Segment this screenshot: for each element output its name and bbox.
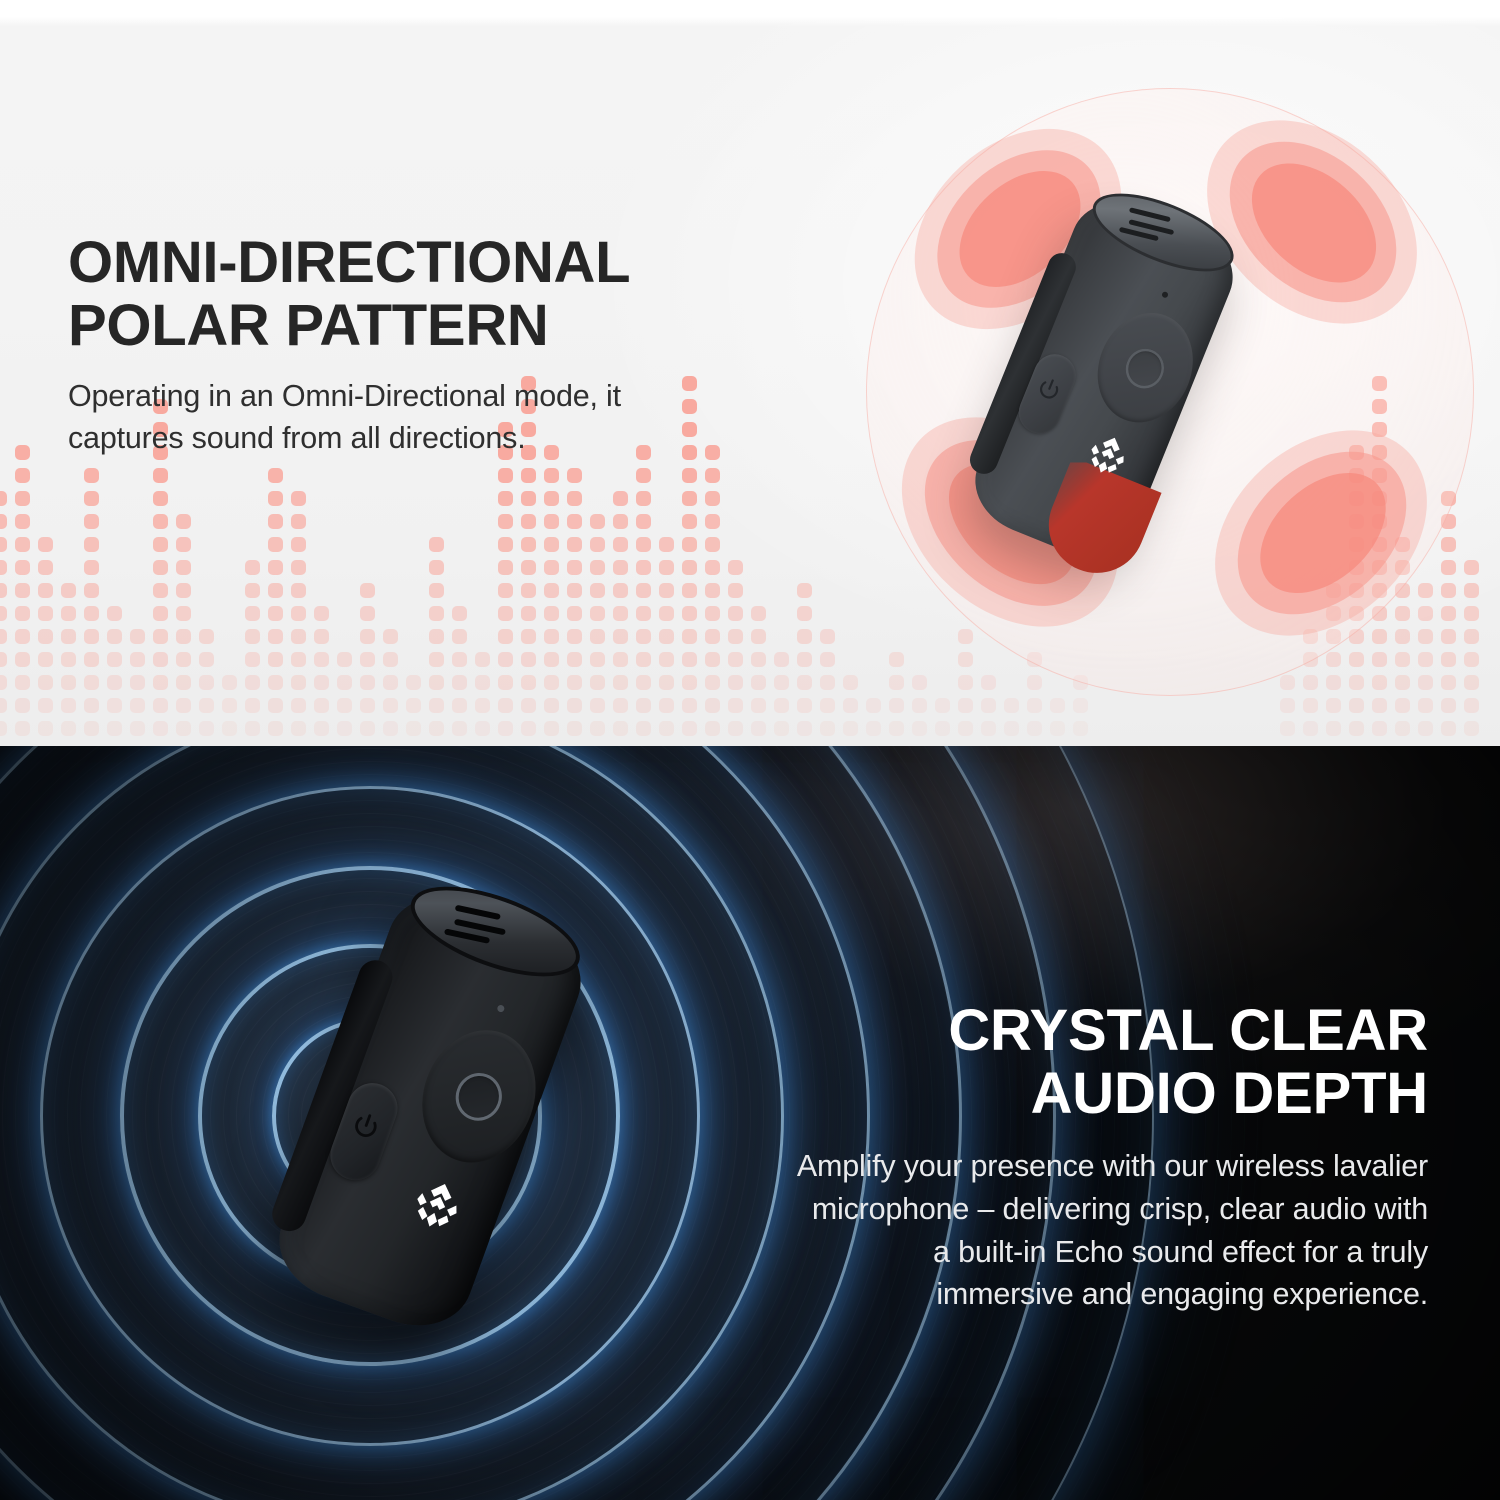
equalizer-dot — [291, 537, 306, 552]
equalizer-dot — [176, 537, 191, 552]
equalizer-dot — [1050, 698, 1065, 713]
equalizer-dot — [475, 721, 490, 736]
equalizer-dot — [222, 721, 237, 736]
equalizer-dot — [728, 721, 743, 736]
equalizer-dot — [544, 675, 559, 690]
equalizer-dot — [751, 606, 766, 621]
equalizer-dot — [682, 698, 697, 713]
equalizer-dot — [636, 721, 651, 736]
equalizer-dot — [0, 514, 7, 529]
equalizer-dot — [38, 537, 53, 552]
equalizer-dot — [544, 721, 559, 736]
equalizer-dot — [705, 583, 720, 598]
equalizer-dot — [222, 675, 237, 690]
equalizer-dot — [567, 652, 582, 667]
equalizer-dot — [705, 537, 720, 552]
equalizer-dot — [521, 675, 536, 690]
equalizer-dot — [268, 675, 283, 690]
equalizer-dot — [751, 721, 766, 736]
equalizer-dot — [153, 606, 168, 621]
equalizer-dot — [636, 606, 651, 621]
equalizer-dot — [15, 675, 30, 690]
equalizer-dot — [314, 721, 329, 736]
equalizer-dot — [659, 652, 674, 667]
equalizer-dot — [1349, 721, 1364, 736]
equalizer-dot — [107, 652, 122, 667]
equalizer-dot — [429, 606, 444, 621]
equalizer-dot — [705, 698, 720, 713]
equalizer-dot — [153, 468, 168, 483]
equalizer-dot — [521, 537, 536, 552]
equalizer-dot — [268, 721, 283, 736]
equalizer-dot — [682, 675, 697, 690]
equalizer-dot — [176, 698, 191, 713]
equalizer-dot — [406, 675, 421, 690]
equalizer-dot — [291, 560, 306, 575]
equalizer-dot — [636, 468, 651, 483]
equalizer-dot — [1395, 698, 1410, 713]
equalizer-dot — [38, 652, 53, 667]
equalizer-dot — [797, 698, 812, 713]
equalizer-dot — [613, 514, 628, 529]
equalizer-dot — [682, 652, 697, 667]
equalizer-dot — [107, 675, 122, 690]
equalizer-dot — [866, 721, 881, 736]
equalizer-dot — [797, 606, 812, 621]
equalizer-dot — [429, 698, 444, 713]
equalizer-dot — [268, 629, 283, 644]
equalizer-dot — [1050, 721, 1065, 736]
equalizer-dot — [0, 721, 7, 736]
equalizer-dot — [84, 721, 99, 736]
equalizer-dot — [682, 606, 697, 621]
equalizer-dot — [314, 629, 329, 644]
equalizer-dot — [245, 698, 260, 713]
equalizer-dot — [291, 514, 306, 529]
equalizer-dot — [199, 721, 214, 736]
equalizer-dot — [360, 652, 375, 667]
equalizer-dot — [728, 583, 743, 598]
equalizer-dot — [659, 606, 674, 621]
equalizer-dot — [84, 560, 99, 575]
equalizer-dot — [153, 721, 168, 736]
equalizer-dot — [866, 698, 881, 713]
equalizer-dot — [452, 652, 467, 667]
equalizer-dot — [544, 583, 559, 598]
equalizer-dot — [613, 606, 628, 621]
equalizer-dot — [452, 698, 467, 713]
equalizer-dot — [590, 514, 605, 529]
equalizer-dot — [360, 606, 375, 621]
equalizer-dot — [728, 606, 743, 621]
top-panel-omni-directional: OMNI-DIRECTIONAL POLAR PATTERN Operating… — [0, 0, 1500, 746]
equalizer-dot — [84, 698, 99, 713]
equalizer-dot — [636, 629, 651, 644]
equalizer-dot — [820, 675, 835, 690]
equalizer-dot — [429, 629, 444, 644]
equalizer-dot — [498, 560, 513, 575]
equalizer-dot — [0, 698, 7, 713]
equalizer-dot — [820, 652, 835, 667]
equalizer-dot — [15, 721, 30, 736]
equalizer-dot — [84, 675, 99, 690]
equalizer-dot — [268, 698, 283, 713]
equalizer-dot — [498, 675, 513, 690]
equalizer-dot — [291, 698, 306, 713]
equalizer-dot — [153, 675, 168, 690]
equalizer-dot — [153, 514, 168, 529]
equalizer-dot — [38, 606, 53, 621]
equalizer-dot — [383, 652, 398, 667]
equalizer-dot — [360, 721, 375, 736]
equalizer-dot — [429, 537, 444, 552]
equalizer-dot — [659, 698, 674, 713]
equalizer-dot — [84, 652, 99, 667]
equalizer-dot — [498, 514, 513, 529]
equalizer-dot — [498, 652, 513, 667]
equalizer-dot — [153, 537, 168, 552]
equalizer-dot — [751, 698, 766, 713]
equalizer-dot — [613, 698, 628, 713]
equalizer-dot — [268, 652, 283, 667]
equalizer-dot — [567, 675, 582, 690]
equalizer-dot — [1280, 698, 1295, 713]
equalizer-dot — [314, 675, 329, 690]
equalizer-dot — [291, 721, 306, 736]
equalizer-dot — [61, 698, 76, 713]
equalizer-dot — [981, 698, 996, 713]
equalizer-dot — [199, 652, 214, 667]
equalizer-dot — [544, 514, 559, 529]
equalizer-dot — [268, 537, 283, 552]
equalizer-dot — [751, 652, 766, 667]
equalizer-dot — [912, 698, 927, 713]
equalizer-dot — [245, 583, 260, 598]
equalizer-dot — [498, 537, 513, 552]
equalizer-dot — [84, 583, 99, 598]
equalizer-dot — [613, 652, 628, 667]
equalizer-dot — [843, 675, 858, 690]
equalizer-dot — [613, 491, 628, 506]
equalizer-dot — [521, 560, 536, 575]
equalizer-dot — [0, 652, 7, 667]
equalizer-dot — [107, 629, 122, 644]
equalizer-dot — [130, 698, 145, 713]
equalizer-dot — [590, 721, 605, 736]
equalizer-dot — [797, 675, 812, 690]
top-headline-line2: POLAR PATTERN — [68, 293, 549, 358]
equalizer-dot — [567, 537, 582, 552]
equalizer-dot — [498, 721, 513, 736]
equalizer-dot — [222, 698, 237, 713]
equalizer-dot — [153, 698, 168, 713]
equalizer-dot — [0, 491, 7, 506]
equalizer-dot — [107, 698, 122, 713]
top-body-text: Operating in an Omni-Directional mode, i… — [68, 376, 708, 459]
equalizer-dot — [268, 560, 283, 575]
equalizer-dot — [429, 721, 444, 736]
equalizer-dot — [176, 629, 191, 644]
equalizer-dot — [38, 698, 53, 713]
equalizer-dot — [1303, 698, 1318, 713]
equalizer-dot — [0, 629, 7, 644]
bottom-headline-line1: CRYSTAL CLEAR — [948, 998, 1428, 1063]
equalizer-dot — [590, 675, 605, 690]
equalizer-dot — [291, 491, 306, 506]
equalizer-dot — [268, 468, 283, 483]
equalizer-dot — [935, 698, 950, 713]
equalizer-dot — [567, 583, 582, 598]
equalizer-dot — [1372, 721, 1387, 736]
equalizer-dot — [360, 698, 375, 713]
equalizer-dot — [912, 721, 927, 736]
equalizer-dot — [659, 629, 674, 644]
equalizer-dot — [728, 675, 743, 690]
equalizer-dot — [337, 675, 352, 690]
equalizer-dot — [268, 583, 283, 598]
equalizer-dot — [38, 721, 53, 736]
equalizer-dot — [705, 629, 720, 644]
equalizer-dot — [1004, 721, 1019, 736]
equalizer-dot — [521, 468, 536, 483]
equalizer-dot — [61, 606, 76, 621]
equalizer-dot — [613, 675, 628, 690]
equalizer-dot — [682, 583, 697, 598]
equalizer-dot — [452, 675, 467, 690]
equalizer-dot — [61, 583, 76, 598]
equalizer-dot — [268, 491, 283, 506]
equalizer-dot — [291, 652, 306, 667]
equalizer-dot — [199, 698, 214, 713]
equalizer-dot — [544, 606, 559, 621]
equalizer-dot — [820, 629, 835, 644]
equalizer-dot — [889, 721, 904, 736]
equalizer-dot — [1004, 698, 1019, 713]
equalizer-dot — [475, 698, 490, 713]
equalizer-dot — [981, 721, 996, 736]
equalizer-dot — [590, 652, 605, 667]
equalizer-dot — [452, 606, 467, 621]
equalizer-dot — [291, 675, 306, 690]
equalizer-dot — [291, 629, 306, 644]
equalizer-dot — [636, 583, 651, 598]
equalizer-dot — [245, 560, 260, 575]
equalizer-dot — [429, 652, 444, 667]
equalizer-dot — [291, 606, 306, 621]
equalizer-dot — [544, 698, 559, 713]
equalizer-dot — [1418, 698, 1433, 713]
equalizer-dot — [636, 514, 651, 529]
equalizer-dot — [0, 560, 7, 575]
equalizer-dot — [475, 675, 490, 690]
equalizer-dot — [199, 629, 214, 644]
equalizer-dot — [15, 468, 30, 483]
equalizer-dot — [567, 606, 582, 621]
equalizer-dot — [567, 560, 582, 575]
equalizer-dot — [15, 514, 30, 529]
equalizer-dot — [889, 698, 904, 713]
equalizer-dot — [613, 537, 628, 552]
equalizer-dot — [15, 698, 30, 713]
equalizer-dot — [130, 652, 145, 667]
equalizer-dot — [705, 560, 720, 575]
equalizer-dot — [659, 537, 674, 552]
equalizer-dot — [176, 514, 191, 529]
equalizer-dot — [1326, 721, 1341, 736]
equalizer-dot — [774, 652, 789, 667]
equalizer-dot — [130, 629, 145, 644]
equalizer-dot — [176, 721, 191, 736]
equalizer-dot — [245, 675, 260, 690]
equalizer-dot — [521, 491, 536, 506]
equalizer-dot — [636, 560, 651, 575]
equalizer-dot — [107, 606, 122, 621]
equalizer-dot — [728, 560, 743, 575]
equalizer-dot — [659, 721, 674, 736]
equalizer-dot — [1303, 721, 1318, 736]
equalizer-dot — [0, 606, 7, 621]
equalizer-dot — [153, 560, 168, 575]
equalizer-dot — [521, 721, 536, 736]
equalizer-dot — [84, 468, 99, 483]
equalizer-dot — [452, 629, 467, 644]
equalizer-dot — [751, 629, 766, 644]
equalizer-dot — [544, 491, 559, 506]
equalizer-dot — [383, 721, 398, 736]
equalizer-dot — [337, 652, 352, 667]
equalizer-dot — [245, 721, 260, 736]
equalizer-dot — [498, 698, 513, 713]
equalizer-dot — [153, 491, 168, 506]
equalizer-dot — [0, 537, 7, 552]
equalizer-dot — [682, 491, 697, 506]
equalizer-dot — [130, 675, 145, 690]
equalizer-dot — [613, 583, 628, 598]
equalizer-dot — [521, 514, 536, 529]
equalizer-dot — [567, 698, 582, 713]
equalizer-dot — [843, 698, 858, 713]
equalizer-dot — [1464, 721, 1479, 736]
equalizer-dot — [0, 675, 7, 690]
equalizer-dot — [682, 514, 697, 529]
equalizer-dot — [130, 721, 145, 736]
equalizer-dot — [820, 721, 835, 736]
top-headline: OMNI-DIRECTIONAL POLAR PATTERN — [68, 232, 748, 357]
equalizer-dot — [636, 652, 651, 667]
equalizer-dot — [498, 583, 513, 598]
equalizer-dot — [797, 583, 812, 598]
equalizer-dot — [544, 652, 559, 667]
equalizer-dot — [958, 721, 973, 736]
equalizer-dot — [15, 560, 30, 575]
equalizer-dot — [705, 468, 720, 483]
equalizer-dot — [314, 606, 329, 621]
equalizer-dot — [1441, 721, 1456, 736]
bottom-headline-line2: AUDIO DEPTH — [1031, 1061, 1428, 1126]
equalizer-dot — [682, 629, 697, 644]
equalizer-dot — [1027, 721, 1042, 736]
equalizer-dot — [544, 560, 559, 575]
equalizer-dot — [84, 514, 99, 529]
equalizer-dot — [268, 606, 283, 621]
equalizer-dot — [682, 560, 697, 575]
equalizer-dot — [682, 721, 697, 736]
equalizer-dot — [176, 652, 191, 667]
equalizer-dot — [843, 721, 858, 736]
equalizer-dot — [544, 629, 559, 644]
equalizer-dot — [705, 491, 720, 506]
equalizer-dot — [153, 583, 168, 598]
equalizer-dot — [590, 606, 605, 621]
equalizer-dot — [567, 514, 582, 529]
equalizer-dot — [590, 560, 605, 575]
equalizer-dot — [613, 560, 628, 575]
equalizer-dot — [245, 652, 260, 667]
equalizer-dot — [544, 537, 559, 552]
equalizer-dot — [199, 675, 214, 690]
equalizer-dot — [383, 629, 398, 644]
equalizer-dot — [268, 514, 283, 529]
equalizer-dot — [567, 468, 582, 483]
equalizer-dot — [475, 652, 490, 667]
equalizer-dot — [15, 606, 30, 621]
bottom-body-text: Amplify your presence with our wireless … — [788, 1145, 1428, 1316]
equalizer-dot — [705, 675, 720, 690]
equalizer-dot — [61, 675, 76, 690]
equalizer-dot — [38, 560, 53, 575]
equalizer-dot — [1349, 698, 1364, 713]
equalizer-dot — [521, 629, 536, 644]
equalizer-dot — [1395, 721, 1410, 736]
equalizer-dot — [1418, 721, 1433, 736]
equalizer-dot — [636, 698, 651, 713]
equalizer-dot — [406, 721, 421, 736]
equalizer-dot — [613, 629, 628, 644]
equalizer-dot — [15, 491, 30, 506]
equalizer-dot — [15, 537, 30, 552]
equalizer-dot — [659, 560, 674, 575]
equalizer-dot — [705, 514, 720, 529]
equalizer-dot — [705, 652, 720, 667]
equalizer-dot — [383, 675, 398, 690]
equalizer-dot — [774, 721, 789, 736]
equalizer-dot — [15, 652, 30, 667]
equalizer-dot — [590, 629, 605, 644]
equalizer-dot — [1326, 698, 1341, 713]
equalizer-dot — [429, 675, 444, 690]
equalizer-dot — [521, 583, 536, 598]
equalizer-dot — [1280, 721, 1295, 736]
equalizer-dot — [774, 675, 789, 690]
equalizer-dot — [153, 629, 168, 644]
equalizer-dot — [705, 721, 720, 736]
equalizer-dot — [176, 583, 191, 598]
equalizer-dot — [567, 491, 582, 506]
equalizer-dot — [1441, 698, 1456, 713]
equalizer-dot — [0, 583, 7, 598]
equalizer-dot — [176, 606, 191, 621]
equalizer-dot — [1073, 721, 1088, 736]
equalizer-dot — [728, 629, 743, 644]
equalizer-dot — [797, 652, 812, 667]
equalizer-dot — [61, 652, 76, 667]
equalizer-dot — [360, 629, 375, 644]
equalizer-dot — [176, 675, 191, 690]
equalizer-dot — [682, 468, 697, 483]
equalizer-dot — [291, 583, 306, 598]
equalizer-dot — [659, 583, 674, 598]
equalizer-dot — [337, 698, 352, 713]
